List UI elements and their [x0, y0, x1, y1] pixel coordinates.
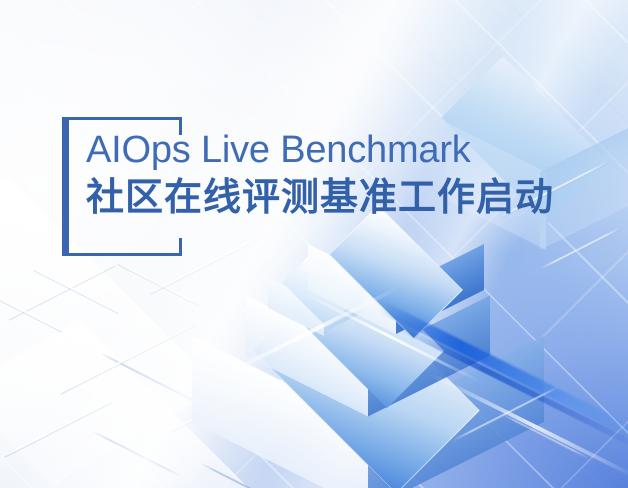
bracket-left-bar — [62, 117, 69, 256]
banner-artwork-card: AIOps Live Benchmark 社区在线评测基准工作启动 — [0, 0, 628, 488]
headline-line-chinese: 社区在线评测基准工作启动 — [86, 174, 586, 220]
bracket-top-line — [69, 117, 182, 120]
bracket-bottom-right-tick — [179, 238, 182, 256]
bracket-bottom-line — [69, 253, 182, 256]
headline-line-english: AIOps Live Benchmark — [86, 128, 586, 172]
corner-bracket-frame — [0, 0, 628, 488]
headline-block: AIOps Live Benchmark 社区在线评测基准工作启动 — [86, 128, 586, 220]
